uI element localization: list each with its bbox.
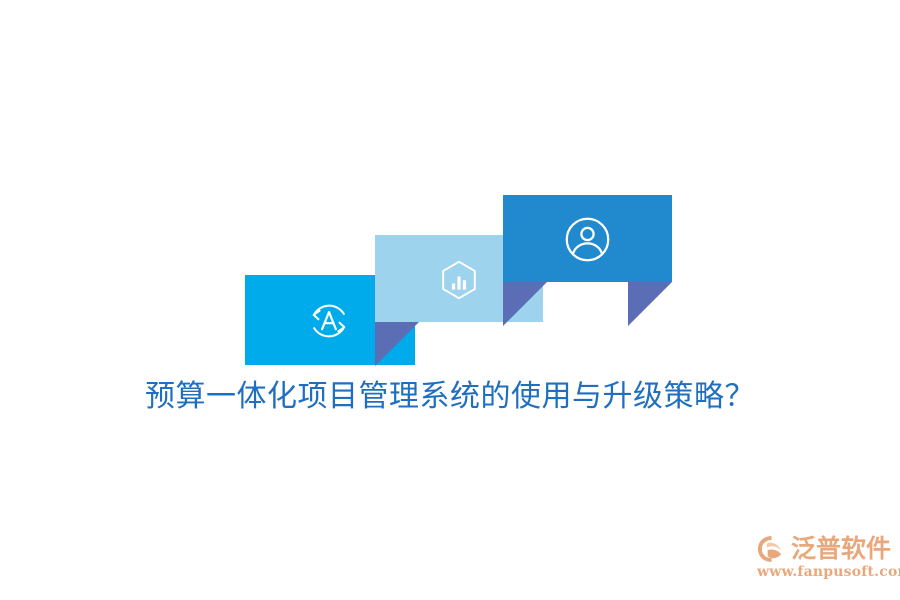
fanpu-leaf-logo-icon (756, 534, 788, 564)
card-tail-user (628, 282, 672, 326)
card-tail-user-shadow (503, 282, 547, 326)
brand-website-url: www.fanpusoft.com (757, 564, 900, 580)
page-title: 预算一体化项目管理系统的使用与升级策略？ (0, 375, 900, 419)
user-avatar-icon (563, 215, 612, 264)
brand-logo[interactable]: 泛普软件 www.fanpusoft.com (756, 530, 888, 588)
card-tail-analytics-shadow (375, 322, 419, 366)
feature-card-user[interactable] (503, 195, 672, 282)
hexagon-bar-chart-icon (436, 257, 482, 303)
brand-name: 泛普软件 (791, 534, 891, 564)
slide-canvas: 预算一体化项目管理系统的使用与升级策略？ 泛普软件 www.fanpusoft.… (0, 0, 900, 600)
letter-a-refresh-icon (306, 298, 352, 344)
brand-logo-row: 泛普软件 (756, 532, 891, 566)
feature-card-cluster (0, 0, 900, 400)
